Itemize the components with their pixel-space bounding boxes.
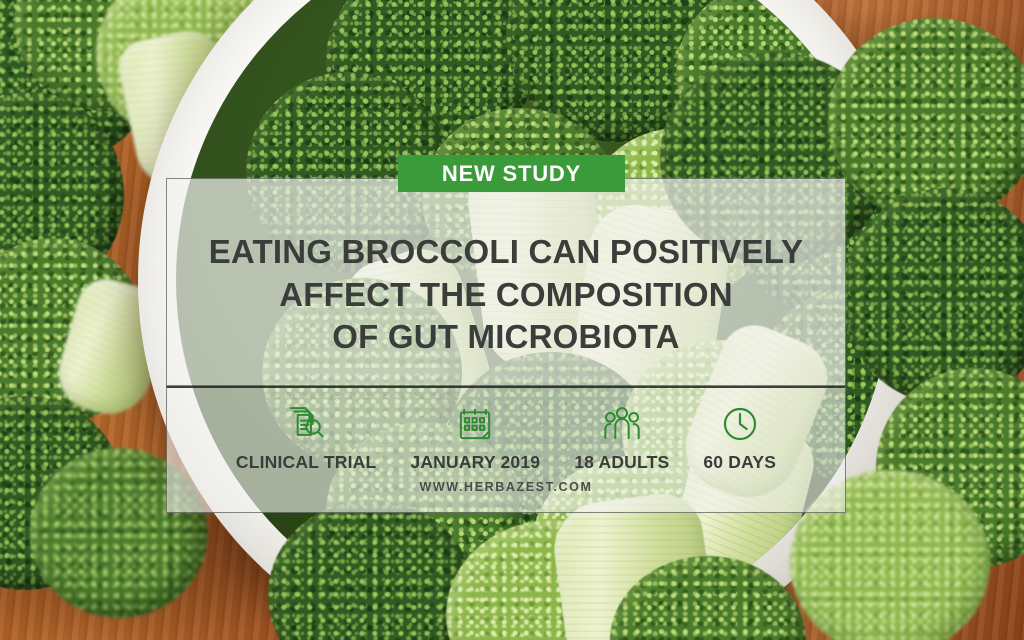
page-title: EATING BROCCOLI CAN POSITIVELY AFFECT TH… [209, 205, 804, 360]
stat-clinical-trial: CLINICAL TRIAL [219, 404, 394, 473]
stat-label: CLINICAL TRIAL [236, 452, 377, 473]
headline-panel: EATING BROCCOLI CAN POSITIVELY AFFECT TH… [166, 178, 846, 386]
stat-date: JANUARY 2019 [393, 404, 557, 473]
stat-participants: 18 ADULTS [557, 404, 686, 473]
stat-label: JANUARY 2019 [410, 452, 540, 473]
stat-label: 18 ADULTS [574, 452, 669, 473]
new-study-badge: NEW STUDY [398, 155, 625, 192]
headline-line-3: OF GUT MICROBIOTA [209, 316, 804, 359]
calendar-icon [455, 404, 495, 444]
headline-line-2: AFFECT THE COMPOSITION [209, 274, 804, 317]
stat-duration: 60 DAYS [686, 404, 793, 473]
document-search-icon [286, 404, 326, 444]
stat-label: 60 DAYS [703, 452, 776, 473]
infographic-card: NEW STUDY EATING BROCCOLI CAN POSITIVELY… [0, 0, 1024, 640]
study-details-panel: CLINICAL TRIAL JANUA [166, 386, 846, 513]
headline-line-1: EATING BROCCOLI CAN POSITIVELY [209, 231, 804, 274]
clock-icon [720, 404, 760, 444]
badge-label: NEW STUDY [442, 161, 581, 187]
stats-row: CLINICAL TRIAL JANUA [167, 388, 845, 473]
people-group-icon [602, 404, 642, 444]
website-url: WWW.HERBAZEST.COM [167, 480, 845, 494]
